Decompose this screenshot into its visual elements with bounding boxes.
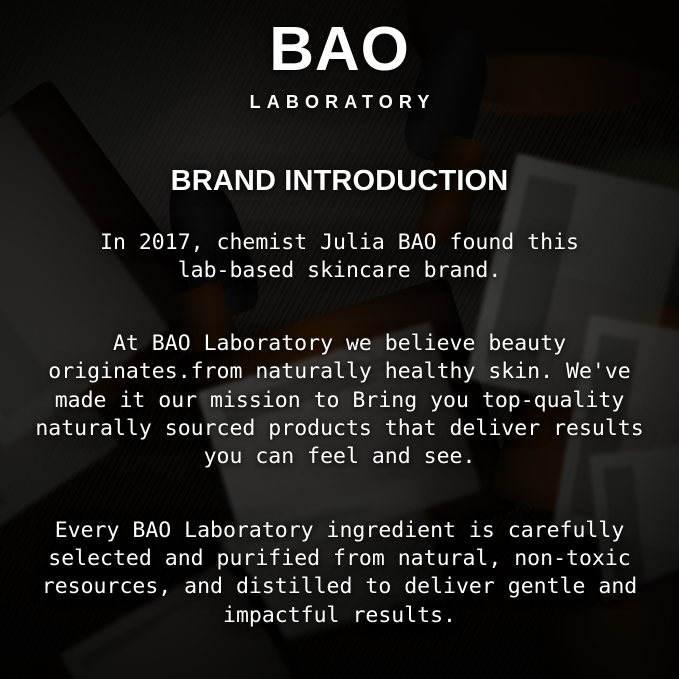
brand-logo: BAO LABORATORY (244, 19, 436, 111)
logo-wordmark: BAO (244, 19, 436, 81)
content-overlay: BAO LABORATORY BRAND INTRODUCTION In 201… (0, 0, 679, 679)
intro-paragraph-1: In 2017, chemist Julia BAO found this la… (0, 229, 679, 286)
intro-paragraph-3: Every BAO Laboratory ingredient is caref… (0, 517, 679, 631)
logo-tagline: LABORATORY (244, 93, 436, 111)
intro-paragraph-2: At BAO Laboratory we believe beauty orig… (0, 330, 679, 472)
page-title: BRAND INTRODUCTION (171, 165, 509, 198)
brand-introduction-card: BAO LABORATORY BRAND INTRODUCTION In 201… (0, 0, 679, 679)
